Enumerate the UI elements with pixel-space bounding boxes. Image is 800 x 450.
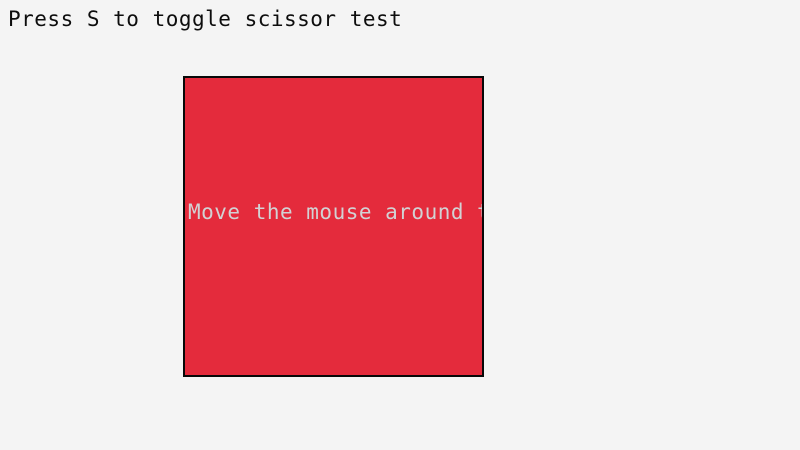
scissor-toggle-hint: Press S to toggle scissor test (8, 6, 402, 32)
scissor-test-rectangle[interactable]: Move the mouse around to r (183, 76, 484, 377)
scissor-clipped-label: Move the mouse around to r (188, 199, 484, 225)
demo-canvas[interactable]: Press S to toggle scissor test Move the … (0, 0, 800, 450)
